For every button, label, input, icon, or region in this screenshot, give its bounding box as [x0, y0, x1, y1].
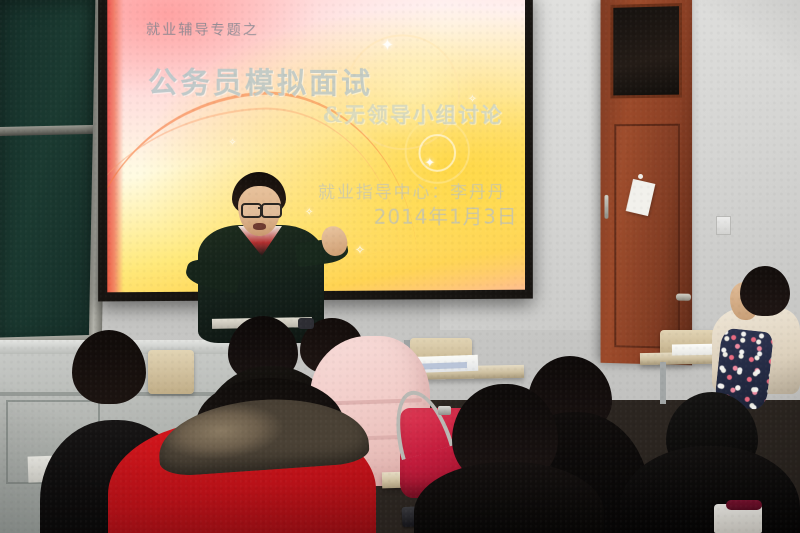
- slide-date: 2014年1月3日: [374, 201, 518, 230]
- handbag-clasp: [438, 406, 451, 415]
- notice-pin: [638, 174, 643, 179]
- sparkle-small-icon: ✧: [305, 208, 313, 218]
- sparkle-icon: ✦: [424, 156, 435, 169]
- door-panel: [614, 124, 680, 349]
- glasses-bridge: [258, 207, 263, 209]
- student-body: [620, 446, 800, 533]
- sparkle-icon: ✦: [381, 38, 394, 54]
- sparkle-small-icon: ✧: [355, 244, 365, 256]
- door-hinge: [604, 195, 608, 219]
- slide-eyebrow-text: 就业辅导专题之: [146, 19, 259, 40]
- door-transom-window: [610, 3, 682, 98]
- cup-rim: [726, 500, 762, 510]
- door-handle-icon[interactable]: [676, 294, 691, 301]
- slide-subtitle: &无领导小组讨论: [323, 99, 503, 129]
- student-head: [740, 266, 790, 316]
- desk-leg: [660, 362, 666, 404]
- sparkle-small-icon: ✧: [229, 138, 237, 147]
- glasses-icon: [261, 203, 282, 218]
- classroom-lecture-photo: ✦ ✦ ✧ ✧ ✧ ✧ 就业辅导专题之 公务员模拟面试 &无领导小组讨论 就业指…: [0, 0, 800, 533]
- chalkboard: [0, 0, 102, 348]
- hair-clip: [298, 318, 314, 329]
- chair: [148, 350, 194, 394]
- slide-organization: 就业指导中心：李丹丹: [318, 178, 506, 203]
- classroom-door[interactable]: [601, 0, 693, 365]
- light-switch[interactable]: [716, 216, 731, 235]
- slide-title: 公务员模拟面试: [148, 59, 373, 102]
- presenter-mouth: [253, 223, 266, 230]
- glasses-icon: [241, 203, 262, 218]
